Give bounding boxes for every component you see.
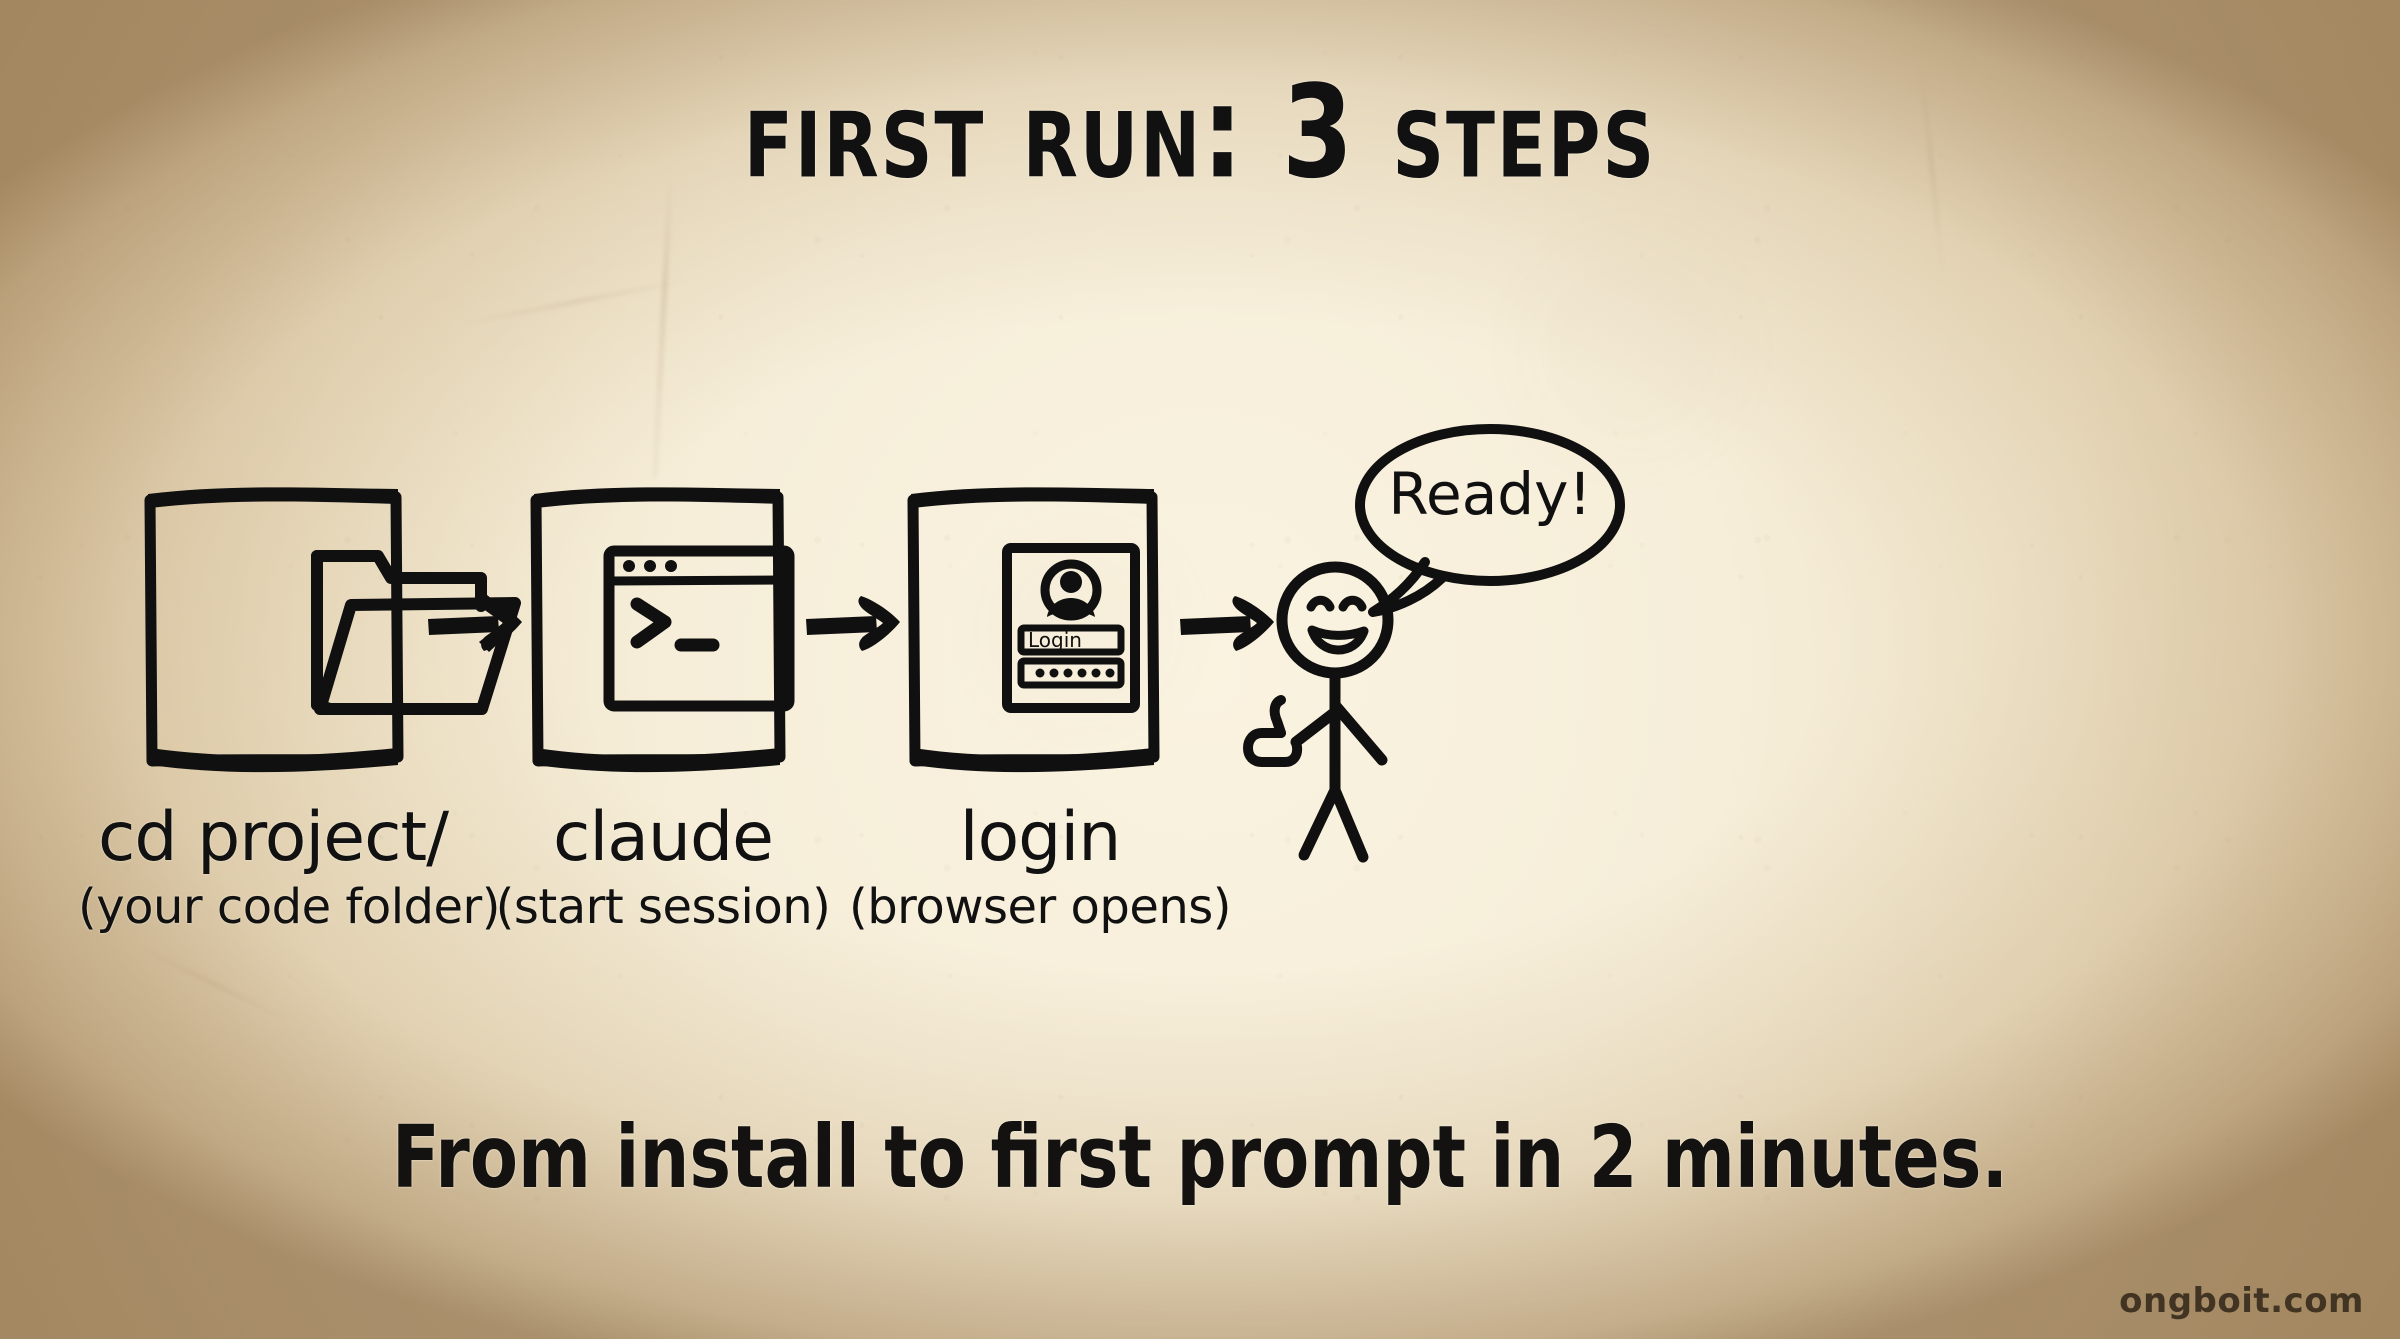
step-3-note: (browser opens) — [845, 879, 1235, 935]
terminal-window-icon — [609, 551, 789, 706]
login-field-label: Login — [1028, 628, 1082, 652]
thumbs-up-icon — [1248, 700, 1297, 762]
step-3-panel[interactable]: Login — [911, 487, 1154, 772]
watermark: ongboit.com — [2119, 1281, 2364, 1321]
speech-bubble-text: Ready! — [1360, 460, 1620, 528]
arrow-right-icon — [806, 596, 900, 651]
poster-canvas: First Run: 3 Steps — [0, 0, 2400, 1339]
step-1-label: cd project/ (your code folder) — [78, 798, 468, 935]
step-1-note: (your code folder) — [78, 879, 468, 935]
login-field[interactable]: Login — [1021, 628, 1121, 652]
step-3-label: login (browser opens) — [845, 798, 1235, 935]
poster-caption: From install to first prompt in 2 minute… — [48, 1108, 2352, 1208]
step-2-command: claude — [468, 798, 858, 877]
avatar-icon — [1045, 564, 1097, 617]
step-1-command: cd project/ — [78, 798, 468, 877]
step-2-note: (start session) — [468, 879, 858, 935]
arrow-right-icon — [1180, 596, 1274, 651]
password-field[interactable] — [1021, 661, 1121, 685]
step-2-label: claude (start session) — [468, 798, 858, 935]
step-2-panel[interactable] — [534, 487, 789, 772]
login-card-icon: Login — [1007, 548, 1135, 708]
step-3-command: login — [845, 798, 1235, 877]
